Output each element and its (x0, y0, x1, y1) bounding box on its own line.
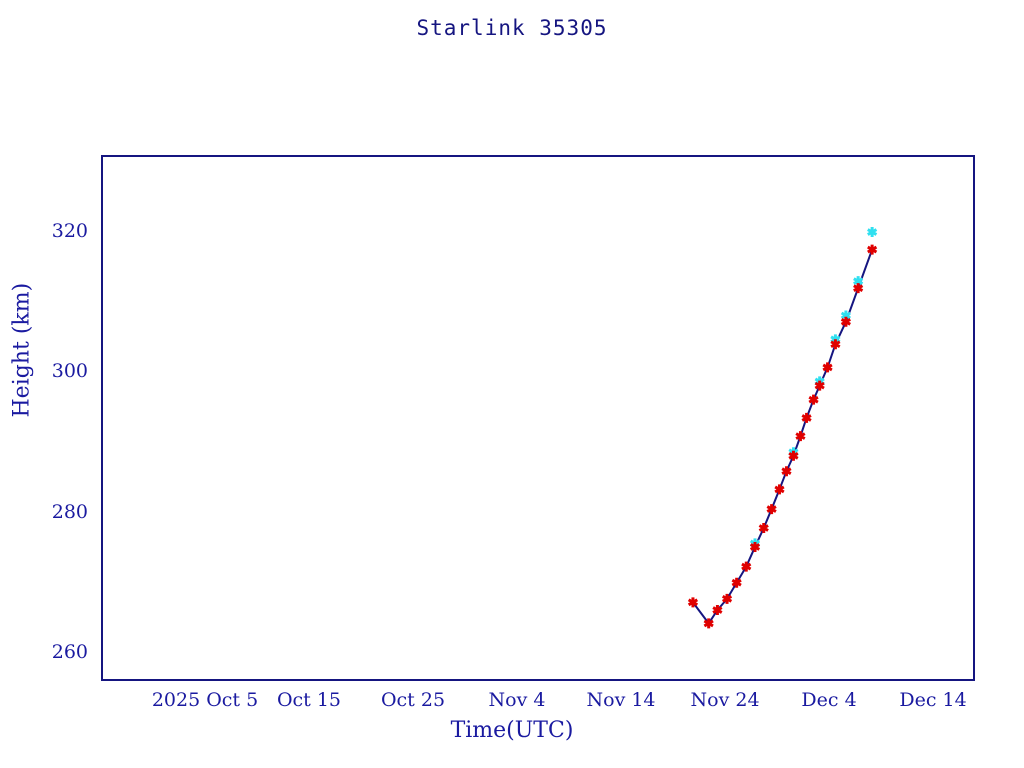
data-point-marker (823, 362, 832, 372)
chart-title: Starlink 35305 (0, 16, 1024, 40)
chart-figure: Starlink 35305 Height (km) Time(UTC) 202… (0, 0, 1024, 768)
y-axis-title: Height (km) (10, 298, 35, 418)
x-axis-tick-label: Dec 14 (853, 689, 1013, 711)
data-point-marker (789, 451, 798, 461)
y-axis-tick-label: 260 (6, 641, 88, 663)
data-point-marker (775, 484, 784, 494)
y-axis-tick-label: 300 (6, 360, 88, 382)
plot-area (101, 155, 975, 681)
x-axis-title: Time(UTC) (0, 718, 1024, 743)
y-axis-tick-label: 320 (6, 220, 88, 242)
data-point-marker (868, 245, 877, 255)
data-series-layer (103, 157, 977, 683)
data-point-marker (751, 542, 760, 552)
data-point-marker (796, 431, 805, 441)
y-axis-tick-label: 280 (6, 501, 88, 523)
data-point-marker (868, 227, 877, 237)
data-point-marker (767, 504, 776, 514)
series-apogee-height (751, 227, 877, 548)
data-point-marker (854, 283, 863, 293)
data-point-marker (782, 466, 791, 476)
series-perigee-height (689, 245, 877, 629)
data-point-marker (759, 523, 768, 533)
data-point-marker (802, 413, 811, 423)
height-trend-line (693, 250, 872, 624)
data-point-marker (809, 395, 818, 405)
